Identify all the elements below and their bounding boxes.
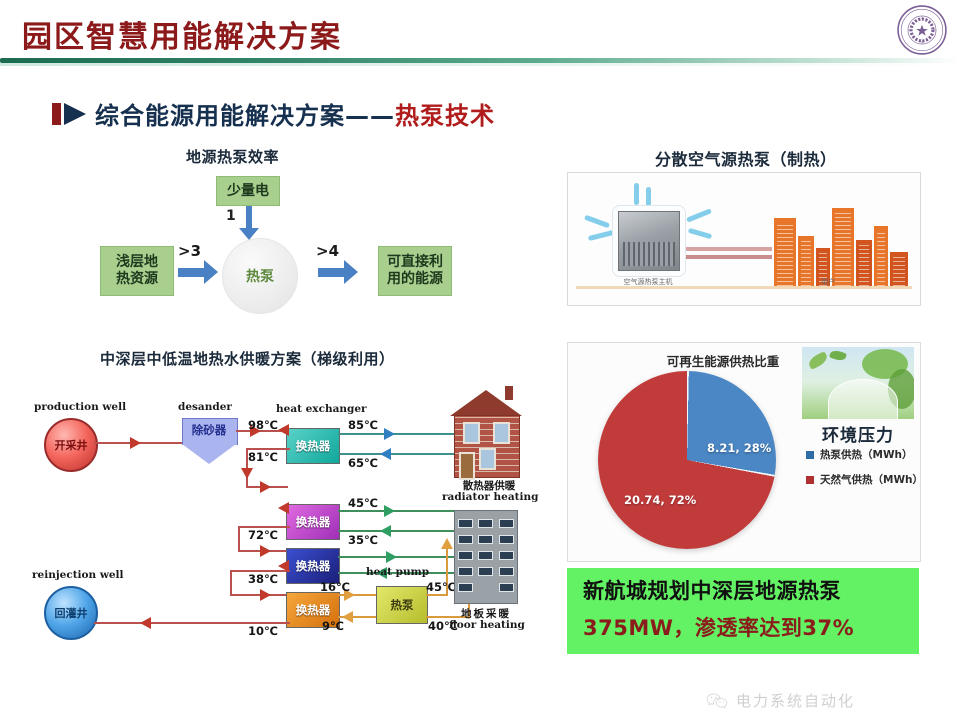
- riser-3: [230, 570, 232, 596]
- temp-45a: 45℃: [348, 496, 378, 510]
- page-title: 园区智慧用能解决方案: [22, 12, 342, 56]
- gshp-ratio-out: >4: [316, 242, 339, 260]
- cascade-diagram-title: 中深层中低温地热水供暖方案（梯级利用）: [100, 348, 395, 369]
- ashp-unit-caption: 空气源热泵主机: [598, 277, 698, 287]
- slide-root: 园区智慧用能解决方案 综合能源用能解决方案——热泵技术 地源热泵效率 少量电 1…: [0, 0, 960, 720]
- section-heading: 综合能源用能解决方案——热泵技术: [52, 96, 495, 131]
- desander-label-cn: 除砂器: [182, 422, 236, 438]
- heat-pump-label-en: heat pump: [366, 566, 429, 578]
- ashp-supply-pipe: [686, 247, 772, 251]
- pie-slice-label-gas: 20.74, 72%: [624, 493, 696, 507]
- air-flow-arrow: [688, 228, 712, 239]
- temp-35: 35℃: [348, 533, 378, 547]
- temp-65: 65℃: [348, 456, 378, 470]
- gshp-electricity-box: 少量电: [216, 176, 280, 206]
- gshp-arrow-in-stem: [178, 268, 204, 277]
- callout-line-2: 375MW，渗透率达到37%: [583, 612, 854, 642]
- gshp-diagram-title: 地源热泵效率: [186, 146, 279, 167]
- arrow-hx1-return: [278, 424, 289, 436]
- temp-81: 81℃: [248, 450, 278, 464]
- legend-item: 热泵供热（MWh）: [806, 447, 923, 462]
- gshp-arrow-out-head: [344, 260, 358, 284]
- air-flow-arrow: [588, 230, 614, 241]
- arrow-to-hx3: [260, 545, 271, 557]
- desander-label-en: desander: [178, 401, 232, 413]
- arrow-to-hx4: [260, 589, 271, 601]
- pipe-hx1-supply-radiator: [338, 433, 454, 435]
- temp-72: 72℃: [248, 528, 278, 542]
- building-tower: [832, 208, 854, 286]
- bullet-arrow-icon: [52, 102, 86, 126]
- ashp-return-pipe: [686, 255, 772, 259]
- section-heading-main: 综合能源用能解决方案——: [95, 102, 395, 130]
- temp-9: 9℃: [322, 619, 344, 633]
- pipe-to-reinjection: [94, 622, 222, 624]
- temp-98: 98℃: [248, 418, 278, 432]
- arrow-hx2-supply: [384, 505, 395, 517]
- gshp-output-box: 可直接利用的能源: [378, 246, 452, 296]
- heat-exchanger-2: 换热器: [286, 504, 340, 540]
- riser-2: [238, 526, 240, 552]
- renewable-share-chart-panel: 可再生能源供热比重 8.21, 28% 20.74, 72% 环境压力 热泵供热…: [567, 342, 921, 562]
- chart-title: 可再生能源供热比重: [628, 351, 818, 370]
- floor-heating-label-en: floor heating: [442, 619, 532, 631]
- footer-attribution: 电力系统自动化: [706, 690, 855, 711]
- riser-1: [246, 448, 248, 486]
- legend-label-heatpump: 热泵供热（MWh）: [820, 447, 913, 462]
- gshp-source-box: 浅层地热资源: [100, 246, 174, 296]
- heat-exchanger-1: 换热器: [286, 428, 340, 464]
- pipe-radiator-return: [338, 453, 454, 455]
- footer-account-name: 电力系统自动化: [736, 690, 855, 711]
- university-seal-logo: [896, 4, 948, 56]
- arrow-hx2-return: [278, 502, 289, 514]
- pipe-hp-supply: [426, 594, 448, 596]
- temp-85: 85℃: [348, 418, 378, 432]
- gshp-ratio-in: >3: [178, 242, 201, 260]
- arrow-to-hx2: [260, 481, 271, 493]
- temp-38: 38℃: [248, 572, 278, 586]
- gshp-electricity-value: 1: [226, 208, 236, 224]
- floor-heating-building-icon: [454, 510, 518, 604]
- section-heading-text: 综合能源用能解决方案——热泵技术: [95, 96, 495, 131]
- temp-45b: 45℃: [426, 580, 456, 594]
- radiator-house-icon: [450, 390, 522, 476]
- ashp-user-caption: 用户: [778, 277, 878, 287]
- pie-slice-label-heatpump: 8.21, 28%: [707, 441, 771, 455]
- building-tower: [774, 218, 796, 286]
- legend-item: 天然气供热（MWh）: [806, 472, 923, 487]
- header-divider: [0, 58, 960, 63]
- highlight-callout: 新航城规划中深层地源热泵 375MW，渗透率达到37%: [567, 568, 919, 654]
- ashp-outdoor-unit-icon: [618, 211, 680, 271]
- gshp-arrow-out-stem: [318, 268, 344, 277]
- chart-legend: 热泵供热（MWh） 天然气供热（MWh）: [806, 447, 923, 497]
- air-flow-arrow: [584, 215, 610, 229]
- heat-pump-unit: 热泵: [376, 586, 428, 624]
- reinjection-well: 回灌井: [44, 586, 98, 640]
- gshp-efficiency-diagram: 少量电 1 浅层地热资源 >3 热泵 >4 可直接利用的能源: [100, 176, 450, 326]
- arrow-to-reinjection: [140, 617, 151, 629]
- legend-label-gas: 天然气供热（MWh）: [820, 472, 923, 487]
- ashp-panel-title: 分散空气源热泵（制热）: [655, 146, 837, 170]
- heat-exchanger-3: 换热器: [286, 548, 340, 584]
- air-flow-arrow: [686, 208, 712, 222]
- temp-10: 10℃: [248, 624, 278, 638]
- pipe-hx2-supply: [338, 510, 454, 512]
- environment-label: 环境压力: [802, 421, 914, 446]
- air-flow-arrow: [634, 183, 639, 205]
- legend-swatch-gas: [806, 476, 814, 484]
- section-heading-accent: 热泵技术: [395, 102, 495, 130]
- environment-photo: [802, 347, 914, 419]
- arrow-radiator-return: [380, 448, 391, 460]
- wechat-icon: [706, 692, 728, 710]
- ashp-illustration-panel: 空气源热泵主机 用户: [567, 172, 921, 306]
- pipe-hx1-return: [246, 448, 290, 450]
- arrow-hx3-return: [278, 560, 289, 572]
- temp-16: 16℃: [320, 580, 350, 594]
- pipe-hx4-return: [220, 622, 290, 624]
- reinjection-well-label-en: reinjection well: [32, 569, 124, 581]
- legend-swatch-heatpump: [806, 451, 814, 459]
- pipe-hx2-return-green: [338, 530, 454, 532]
- gshp-arrow-in-head: [204, 260, 218, 284]
- pie-chart: [598, 371, 776, 549]
- arrow-hx2-return-green: [380, 525, 391, 537]
- gshp-heat-pump-circle: 热泵: [222, 238, 298, 314]
- cascade-heating-diagram: production well 开采井 reinjection well 回灌井…: [14, 390, 544, 660]
- arrow-hx3-supply: [386, 551, 397, 563]
- building-tower: [890, 252, 908, 286]
- desander: 除砂器: [182, 418, 236, 464]
- arrow-well-to-desander: [130, 437, 141, 449]
- pipe-to-hx4: [230, 594, 288, 596]
- radiator-label-en: radiator heating: [442, 491, 538, 503]
- callout-line-1: 新航城规划中深层地源热泵: [583, 575, 841, 605]
- production-well-label-en: production well: [34, 401, 126, 413]
- pipe-hx2-return: [238, 526, 290, 528]
- heat-exchanger-label-en: heat exchanger: [276, 403, 367, 415]
- arrow-radiator-supply: [384, 428, 395, 440]
- arrow-hp-supply-up: [441, 538, 453, 549]
- arrow-riser-1-down: [241, 468, 253, 479]
- air-flow-arrow: [646, 187, 651, 207]
- gshp-down-arrow-stem: [246, 206, 252, 230]
- production-well: 开采井: [44, 418, 98, 472]
